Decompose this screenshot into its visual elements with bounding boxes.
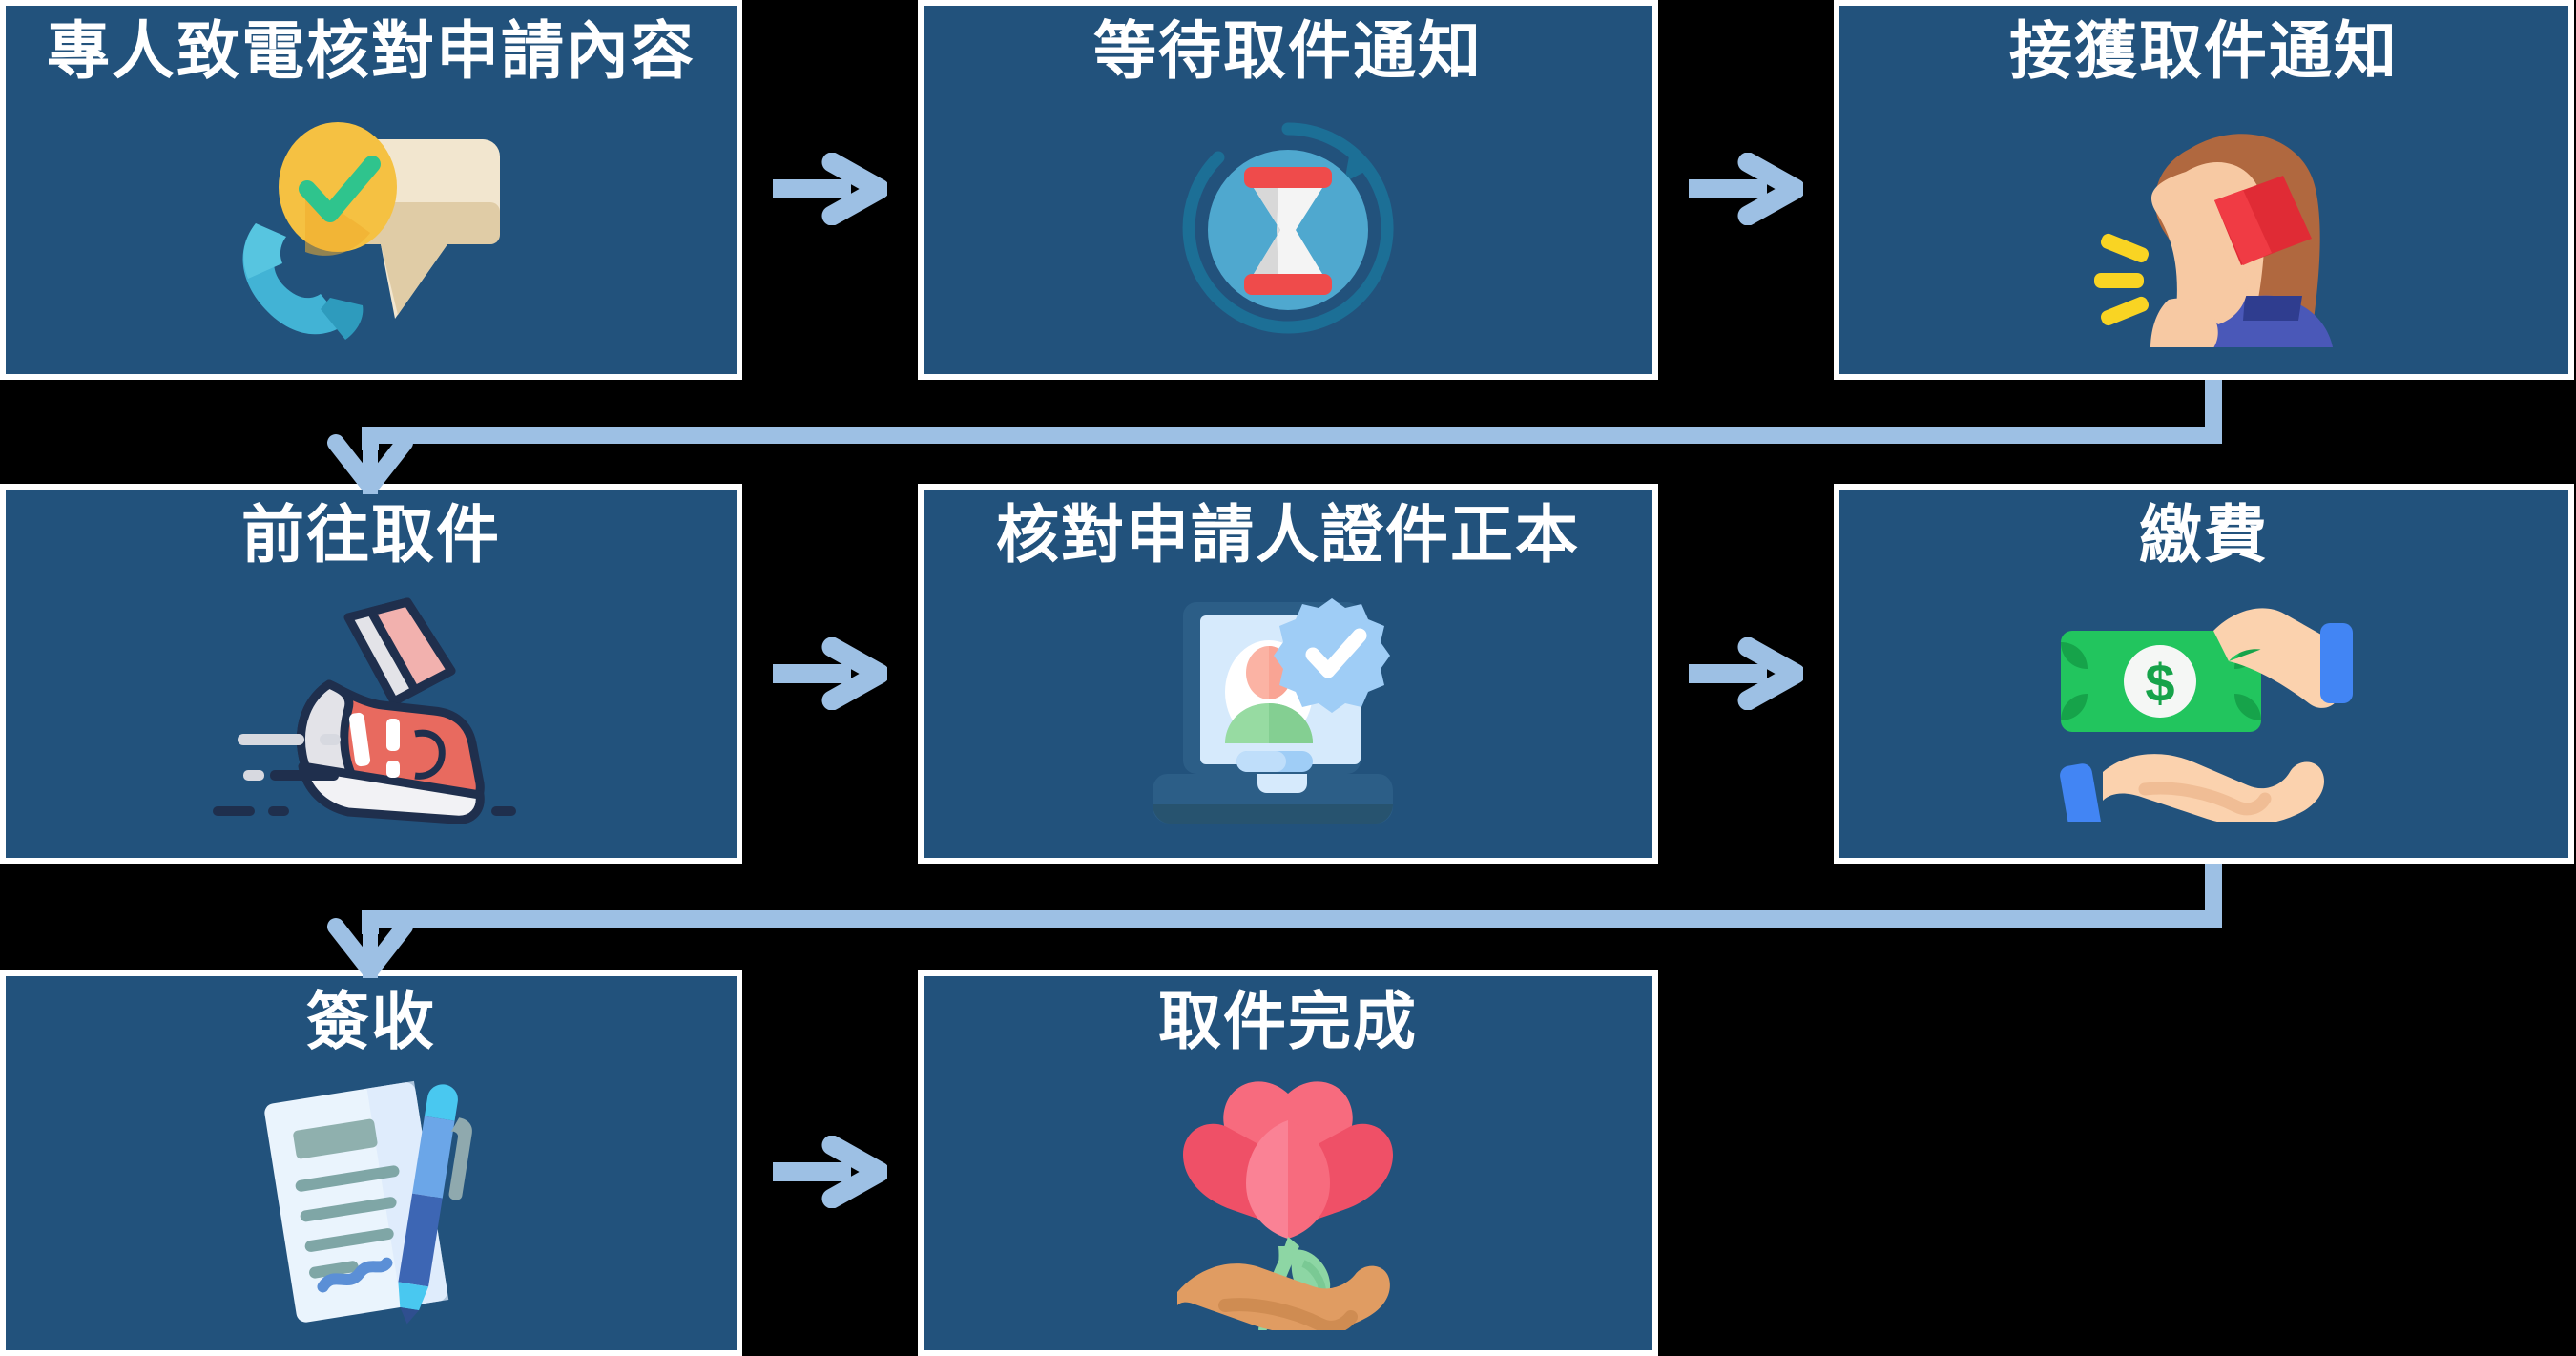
flow-step-label-8: 取件完成 — [1158, 990, 1418, 1053]
flow-step-box-2[interactable]: 等待取件通知 — [918, 0, 1658, 380]
flow-step-label-3: 接獲取件通知 — [2009, 19, 2399, 82]
flow-step-label-4: 前往取件 — [241, 503, 501, 566]
person-receiving-call-icon — [1839, 82, 2568, 374]
flower-in-hand-icon — [924, 1053, 1652, 1350]
flow-step-label-5: 核對申請人證件正本 — [996, 503, 1580, 566]
flow-step-label-7: 簽收 — [306, 990, 436, 1053]
flow-step-box-5[interactable]: 核對申請人證件正本 — [918, 484, 1658, 864]
flow-step-box-7[interactable]: 簽收 — [0, 970, 742, 1356]
flow-step-box-1[interactable]: 專人致電核對申請內容 — [0, 0, 742, 380]
phone-check-message-icon — [6, 82, 737, 374]
flow-step-box-4[interactable]: 前往取件 — [0, 484, 742, 864]
running-shoe-icon — [6, 566, 737, 858]
arrow-step5-to-step6 — [1689, 637, 1803, 715]
flow-step-box-3[interactable]: 接獲取件通知 — [1834, 0, 2574, 380]
connector-step6-to-step7 — [315, 864, 2223, 983]
arrow-step2-to-step3 — [1689, 153, 1803, 230]
arrow-step7-to-step8 — [773, 1136, 887, 1213]
flow-step-label-1: 專人致電核對申請內容 — [47, 19, 696, 82]
arrow-step4-to-step5 — [773, 637, 887, 715]
verified-id-laptop-icon — [924, 566, 1652, 858]
svg-text:$: $ — [2145, 653, 2174, 713]
arrow-step1-to-step2 — [773, 153, 887, 230]
hourglass-waiting-icon — [924, 82, 1652, 374]
flow-step-label-2: 等待取件通知 — [1093, 19, 1483, 82]
signed-document-pen-icon — [6, 1053, 737, 1350]
flow-step-box-8[interactable]: 取件完成 — [918, 970, 1658, 1356]
flow-step-box-6[interactable]: 繳費 $ — [1834, 484, 2574, 864]
cash-payment-hands-icon: $ — [1839, 566, 2568, 858]
connector-step3-to-step4 — [315, 380, 2223, 499]
flowchart-canvas: 專人致電核對申請內容 等待取件通知 — [0, 0, 2576, 1356]
flow-step-label-6: 繳費 — [2139, 503, 2269, 566]
